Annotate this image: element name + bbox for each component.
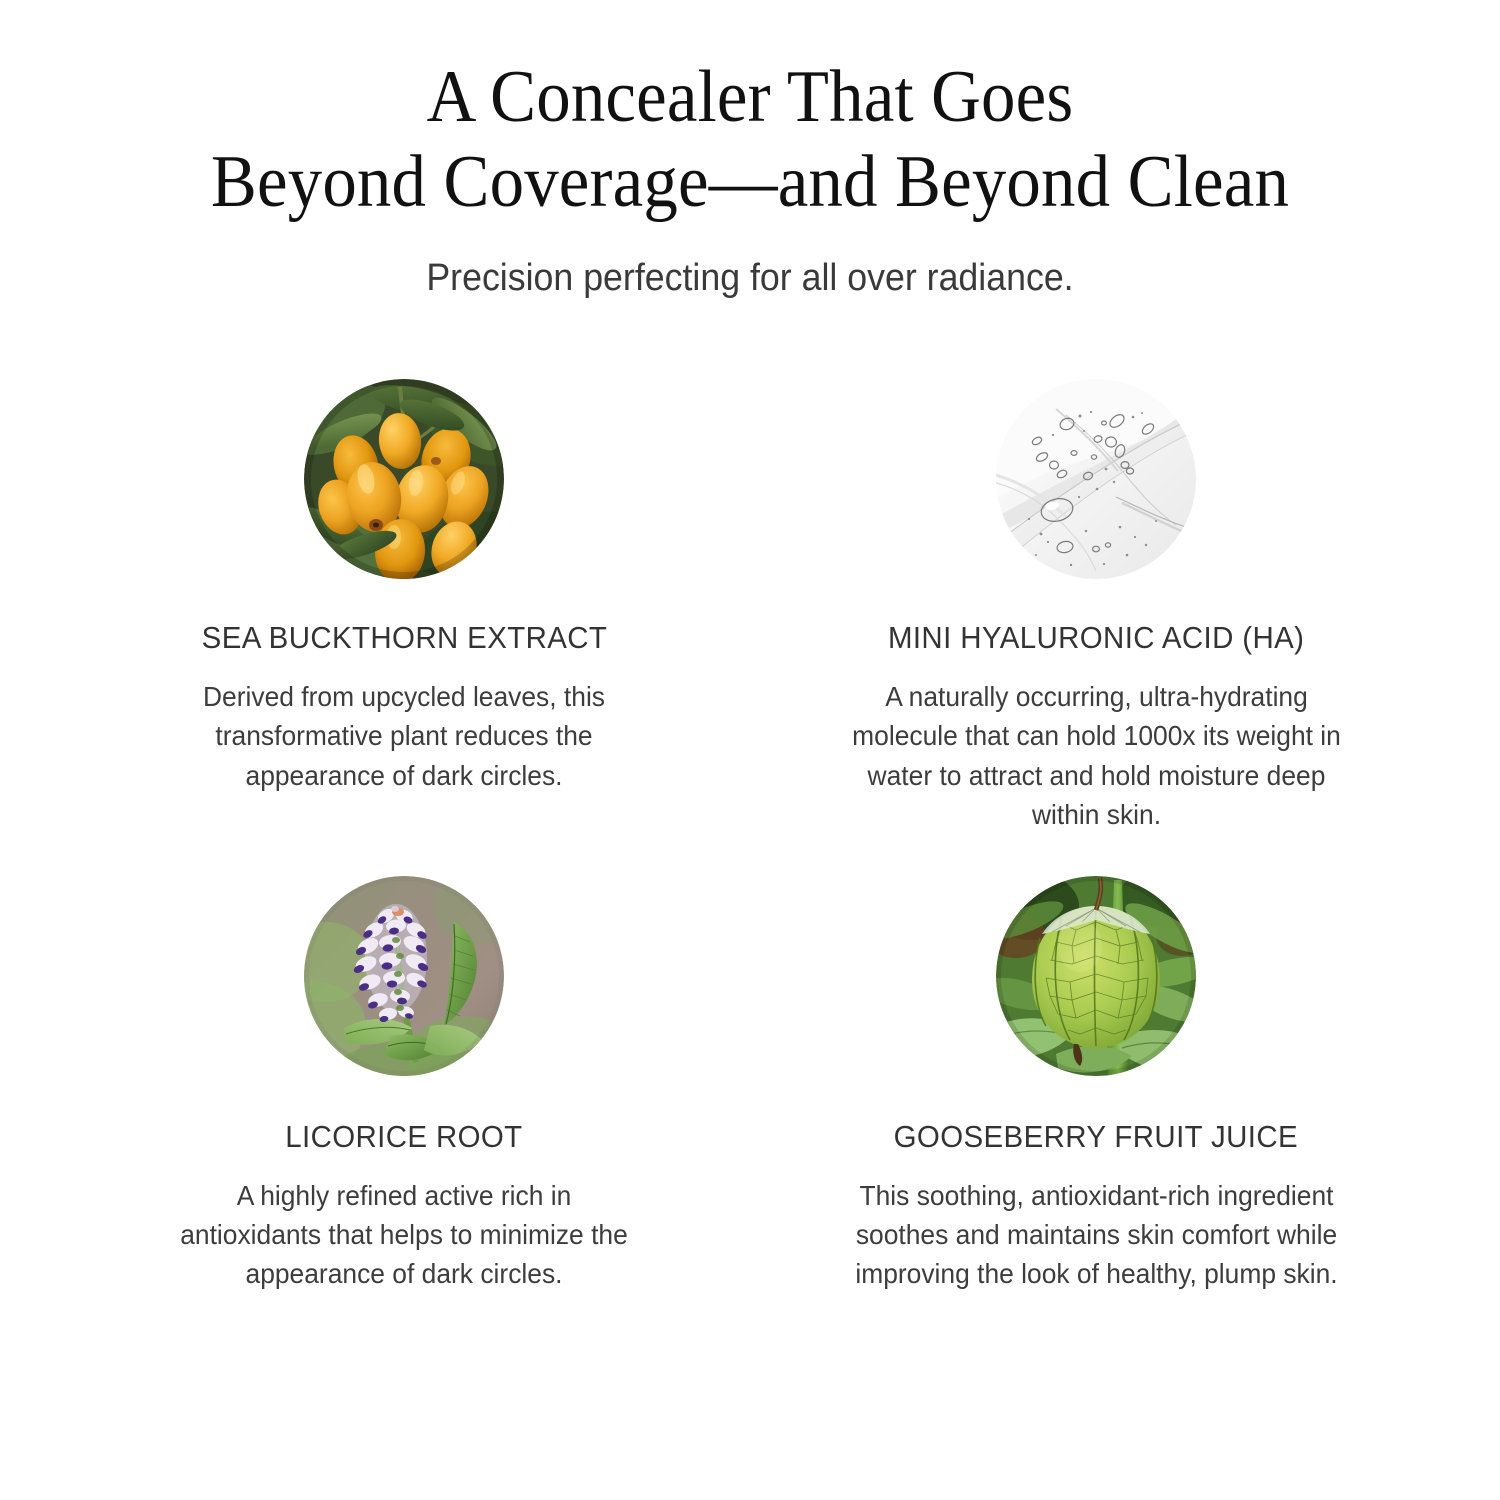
ingredient-card-gooseberry: GOOSEBERRY FRUIT JUICE This soothing, an…: [750, 876, 1442, 1293]
ingredient-description: This soothing, antioxidant-rich ingredie…: [834, 1176, 1357, 1293]
ingredient-description: A highly refined active rich in antioxid…: [164, 1176, 644, 1293]
sea-buckthorn-berries-photo: [304, 379, 504, 579]
licorice-root-flower-photo: [304, 876, 504, 1076]
page-header: A Concealer That Goes Beyond Coverage—an…: [0, 0, 1500, 301]
ingredient-grid: SEA BUCKTHORN EXTRACT Derived from upcyc…: [0, 379, 1500, 1293]
ingredient-title: SEA BUCKTHORN EXTRACT: [201, 621, 607, 655]
page-title-line-1: A Concealer That Goes: [53, 56, 1448, 139]
ingredient-title: LICORICE ROOT: [285, 1120, 522, 1154]
ingredient-description: A naturally occurring, ultra-hydrating m…: [834, 677, 1357, 833]
page-title: A Concealer That Goes Beyond Coverage—an…: [53, 56, 1448, 224]
page-subtitle: Precision perfecting for all over radian…: [45, 256, 1455, 302]
gooseberry-fruit-husk-photo: [996, 876, 1196, 1076]
ingredient-title: MINI HYALURONIC ACID (HA): [888, 621, 1304, 655]
ingredient-description: Derived from upcycled leaves, this trans…: [164, 677, 644, 794]
hyaluronic-acid-gel-texture-photo: [996, 379, 1196, 579]
ingredient-card-hyaluronic-acid: MINI HYALURONIC ACID (HA) A naturally oc…: [750, 379, 1442, 833]
ingredient-title: GOOSEBERRY FRUIT JUICE: [894, 1120, 1298, 1154]
ingredient-benefits-page: A Concealer That Goes Beyond Coverage—an…: [0, 0, 1500, 1500]
ingredient-card-licorice-root: LICORICE ROOT A highly refined active ri…: [58, 876, 750, 1293]
page-title-line-2: Beyond Coverage—and Beyond Clean: [53, 141, 1448, 224]
ingredient-card-sea-buckthorn: SEA BUCKTHORN EXTRACT Derived from upcyc…: [58, 379, 750, 833]
